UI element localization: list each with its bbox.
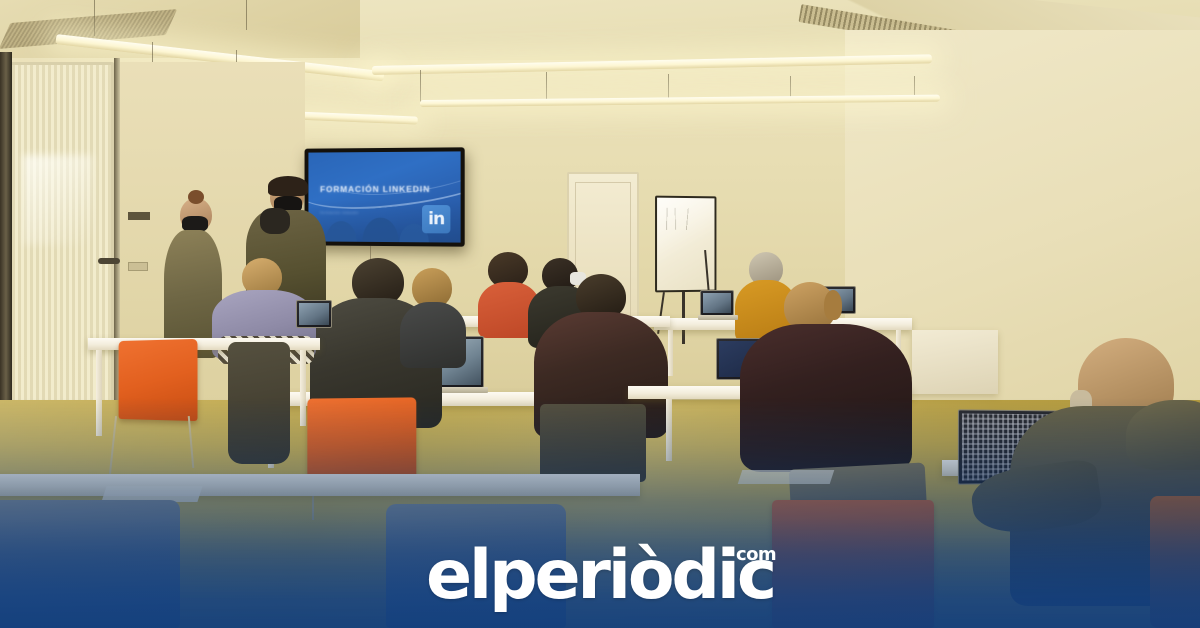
pendant-light-wire bbox=[546, 72, 547, 102]
chair-dark[interactable] bbox=[540, 404, 646, 482]
chair-front-right[interactable] bbox=[1150, 496, 1200, 628]
table-leg bbox=[666, 399, 672, 461]
pendant-light-wire bbox=[420, 70, 421, 102]
presentation-subtitle: formación linkedin bbox=[320, 210, 359, 215]
door-frame-left bbox=[0, 52, 12, 424]
pendant-light-wire bbox=[94, 0, 95, 36]
linkedin-logo-glyph: in bbox=[428, 211, 444, 228]
paper-sheet bbox=[738, 470, 835, 484]
photo-scene: FORMACIÓN LINKEDIN formación linkedin in bbox=[0, 0, 1200, 628]
wall-outlet-icon bbox=[128, 262, 148, 271]
laptop[interactable] bbox=[700, 290, 734, 316]
door-handle-icon[interactable] bbox=[98, 258, 120, 264]
hair bbox=[268, 176, 308, 196]
chair-front-left[interactable] bbox=[0, 500, 180, 628]
torso bbox=[400, 302, 466, 368]
scarf bbox=[260, 208, 290, 234]
side-cabinet bbox=[912, 330, 998, 394]
draped-jacket bbox=[228, 342, 290, 464]
laptop[interactable] bbox=[296, 300, 332, 328]
table-leg bbox=[300, 350, 306, 426]
glass-door-highlight bbox=[23, 155, 93, 245]
wall-sign-plate bbox=[128, 212, 150, 220]
table-front-bottom bbox=[0, 474, 640, 496]
presentation-screen-display: FORMACIÓN LINKEDIN formación linkedin in bbox=[308, 151, 460, 242]
hair-bun bbox=[188, 190, 204, 204]
orange-chair-front[interactable] bbox=[772, 500, 934, 628]
presentation-title: FORMACIÓN LINKEDIN bbox=[320, 184, 430, 194]
ponytail bbox=[824, 290, 842, 320]
chair-front-centre[interactable] bbox=[386, 504, 566, 628]
linkedin-logo-icon: in bbox=[422, 205, 450, 233]
orange-chair[interactable] bbox=[307, 397, 416, 480]
table-leg bbox=[668, 330, 673, 376]
presentation-screen[interactable]: FORMACIÓN LINKEDIN formación linkedin in bbox=[305, 147, 465, 246]
laptop-display bbox=[299, 303, 329, 325]
pendant-light-wire bbox=[246, 0, 247, 30]
table-leg bbox=[96, 350, 102, 436]
torso bbox=[740, 324, 912, 472]
orange-chair[interactable] bbox=[119, 339, 198, 421]
laptop-display bbox=[703, 293, 731, 313]
laptop-base bbox=[698, 315, 738, 320]
